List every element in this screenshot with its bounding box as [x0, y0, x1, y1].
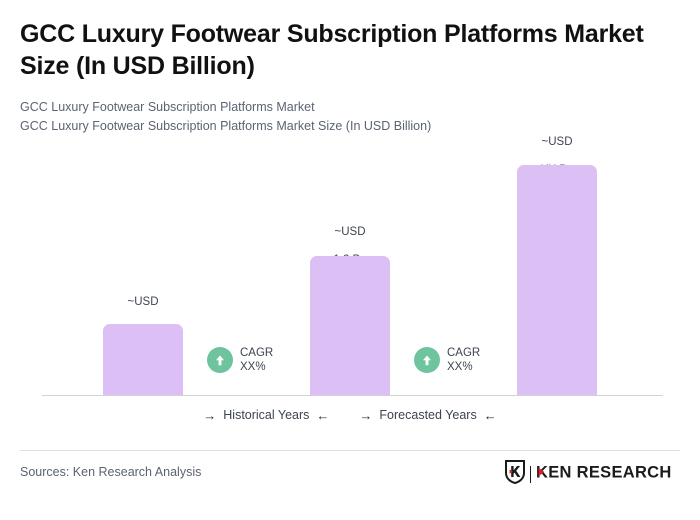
period-forecasted-label: Forecasted Years — [379, 408, 476, 422]
ken-research-logo: KEN RESEARCH — [505, 462, 680, 486]
arrow-right-icon: → — [203, 409, 216, 422]
arrow-up-icon — [414, 347, 440, 373]
ken-research-shield-icon — [505, 460, 525, 489]
period-legend: → Historical Years ← → Forecasted Years … — [0, 408, 700, 422]
bar-2[interactable] — [310, 256, 390, 395]
bar-3[interactable] — [517, 165, 597, 395]
x-axis-line — [42, 395, 663, 396]
period-forecasted[interactable]: → Forecasted Years ← — [359, 408, 496, 422]
cagr-badge-1-text: CAGR XX% — [240, 346, 273, 374]
cagr-badge-2-line1: CAGR — [447, 346, 480, 360]
cagr-badge-2-text: CAGR XX% — [447, 346, 480, 374]
bar-value-label-2-line1: ~USD — [310, 225, 390, 239]
bar-value-label-1-line1: ~USD — [103, 295, 183, 309]
arrow-left-icon: ← — [316, 409, 329, 422]
arrow-right-icon: → — [359, 409, 372, 422]
cagr-badge-1-line1: CAGR — [240, 346, 273, 360]
chart-page: GCC Luxury Footwear Subscription Platfor… — [0, 0, 700, 520]
logo-divider — [530, 466, 531, 483]
sources-text: Sources: Ken Research Analysis — [20, 465, 201, 479]
cagr-badge-2-line2: XX% — [447, 360, 480, 374]
cagr-badge-1[interactable]: CAGR XX% — [207, 346, 273, 374]
arrow-up-icon — [207, 347, 233, 373]
arrow-left-icon: ← — [484, 409, 497, 422]
svg-text:KEN RESEARCH: KEN RESEARCH — [536, 463, 672, 481]
bar-chart: ~USD XX Bn CAGR XX% ~USD 1.2 Bn — [0, 110, 700, 400]
page-title: GCC Luxury Footwear Subscription Platfor… — [20, 18, 685, 82]
bar-value-label-3-line1: ~USD — [517, 135, 597, 149]
bar-1[interactable] — [103, 324, 183, 395]
period-historical-label: Historical Years — [223, 408, 309, 422]
cagr-badge-1-line2: XX% — [240, 360, 273, 374]
footer-divider — [20, 450, 680, 451]
period-historical[interactable]: → Historical Years ← — [203, 408, 329, 422]
cagr-badge-2[interactable]: CAGR XX% — [414, 346, 480, 374]
ken-research-wordmark: KEN RESEARCH — [536, 462, 680, 487]
